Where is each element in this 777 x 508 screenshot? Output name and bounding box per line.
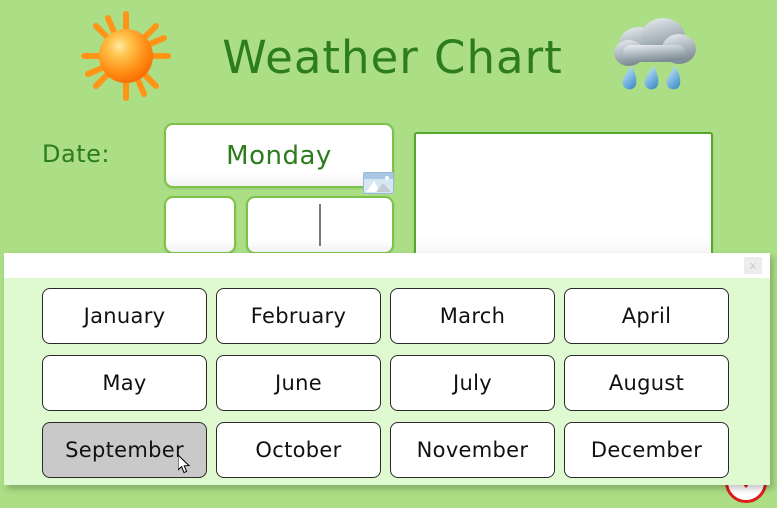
month-button-august[interactable]: August: [564, 355, 729, 411]
month-button-february[interactable]: February: [216, 288, 381, 344]
month-button-october[interactable]: October: [216, 422, 381, 478]
page-header: Weather Chart: [0, 0, 777, 115]
month-button-january[interactable]: January: [42, 288, 207, 344]
month-picker-panel: x January February March April May June …: [4, 253, 770, 485]
month-button-june[interactable]: June: [216, 355, 381, 411]
month-button-may[interactable]: May: [42, 355, 207, 411]
month-button-september[interactable]: September: [42, 422, 207, 478]
sun-icon: [78, 8, 174, 108]
text-caret: [319, 204, 321, 246]
day-of-week-value: Monday: [226, 141, 332, 171]
month-button-december[interactable]: December: [564, 422, 729, 478]
date-label: Date:: [42, 140, 110, 168]
rain-cloud-icon: [611, 14, 699, 102]
day-of-week-field[interactable]: Monday: [164, 123, 394, 188]
page-title: Weather Chart: [222, 31, 562, 84]
picture-icon[interactable]: [363, 172, 394, 194]
month-button-march[interactable]: March: [390, 288, 555, 344]
month-button-july[interactable]: July: [390, 355, 555, 411]
month-button-november[interactable]: November: [390, 422, 555, 478]
month-field[interactable]: [246, 196, 394, 254]
month-button-april[interactable]: April: [564, 288, 729, 344]
month-picker-titlebar: x: [4, 253, 770, 278]
month-grid: January February March April May June Ju…: [4, 278, 770, 485]
notes-panel[interactable]: [414, 132, 713, 266]
close-icon[interactable]: x: [744, 257, 762, 274]
date-number-field[interactable]: [164, 196, 236, 254]
